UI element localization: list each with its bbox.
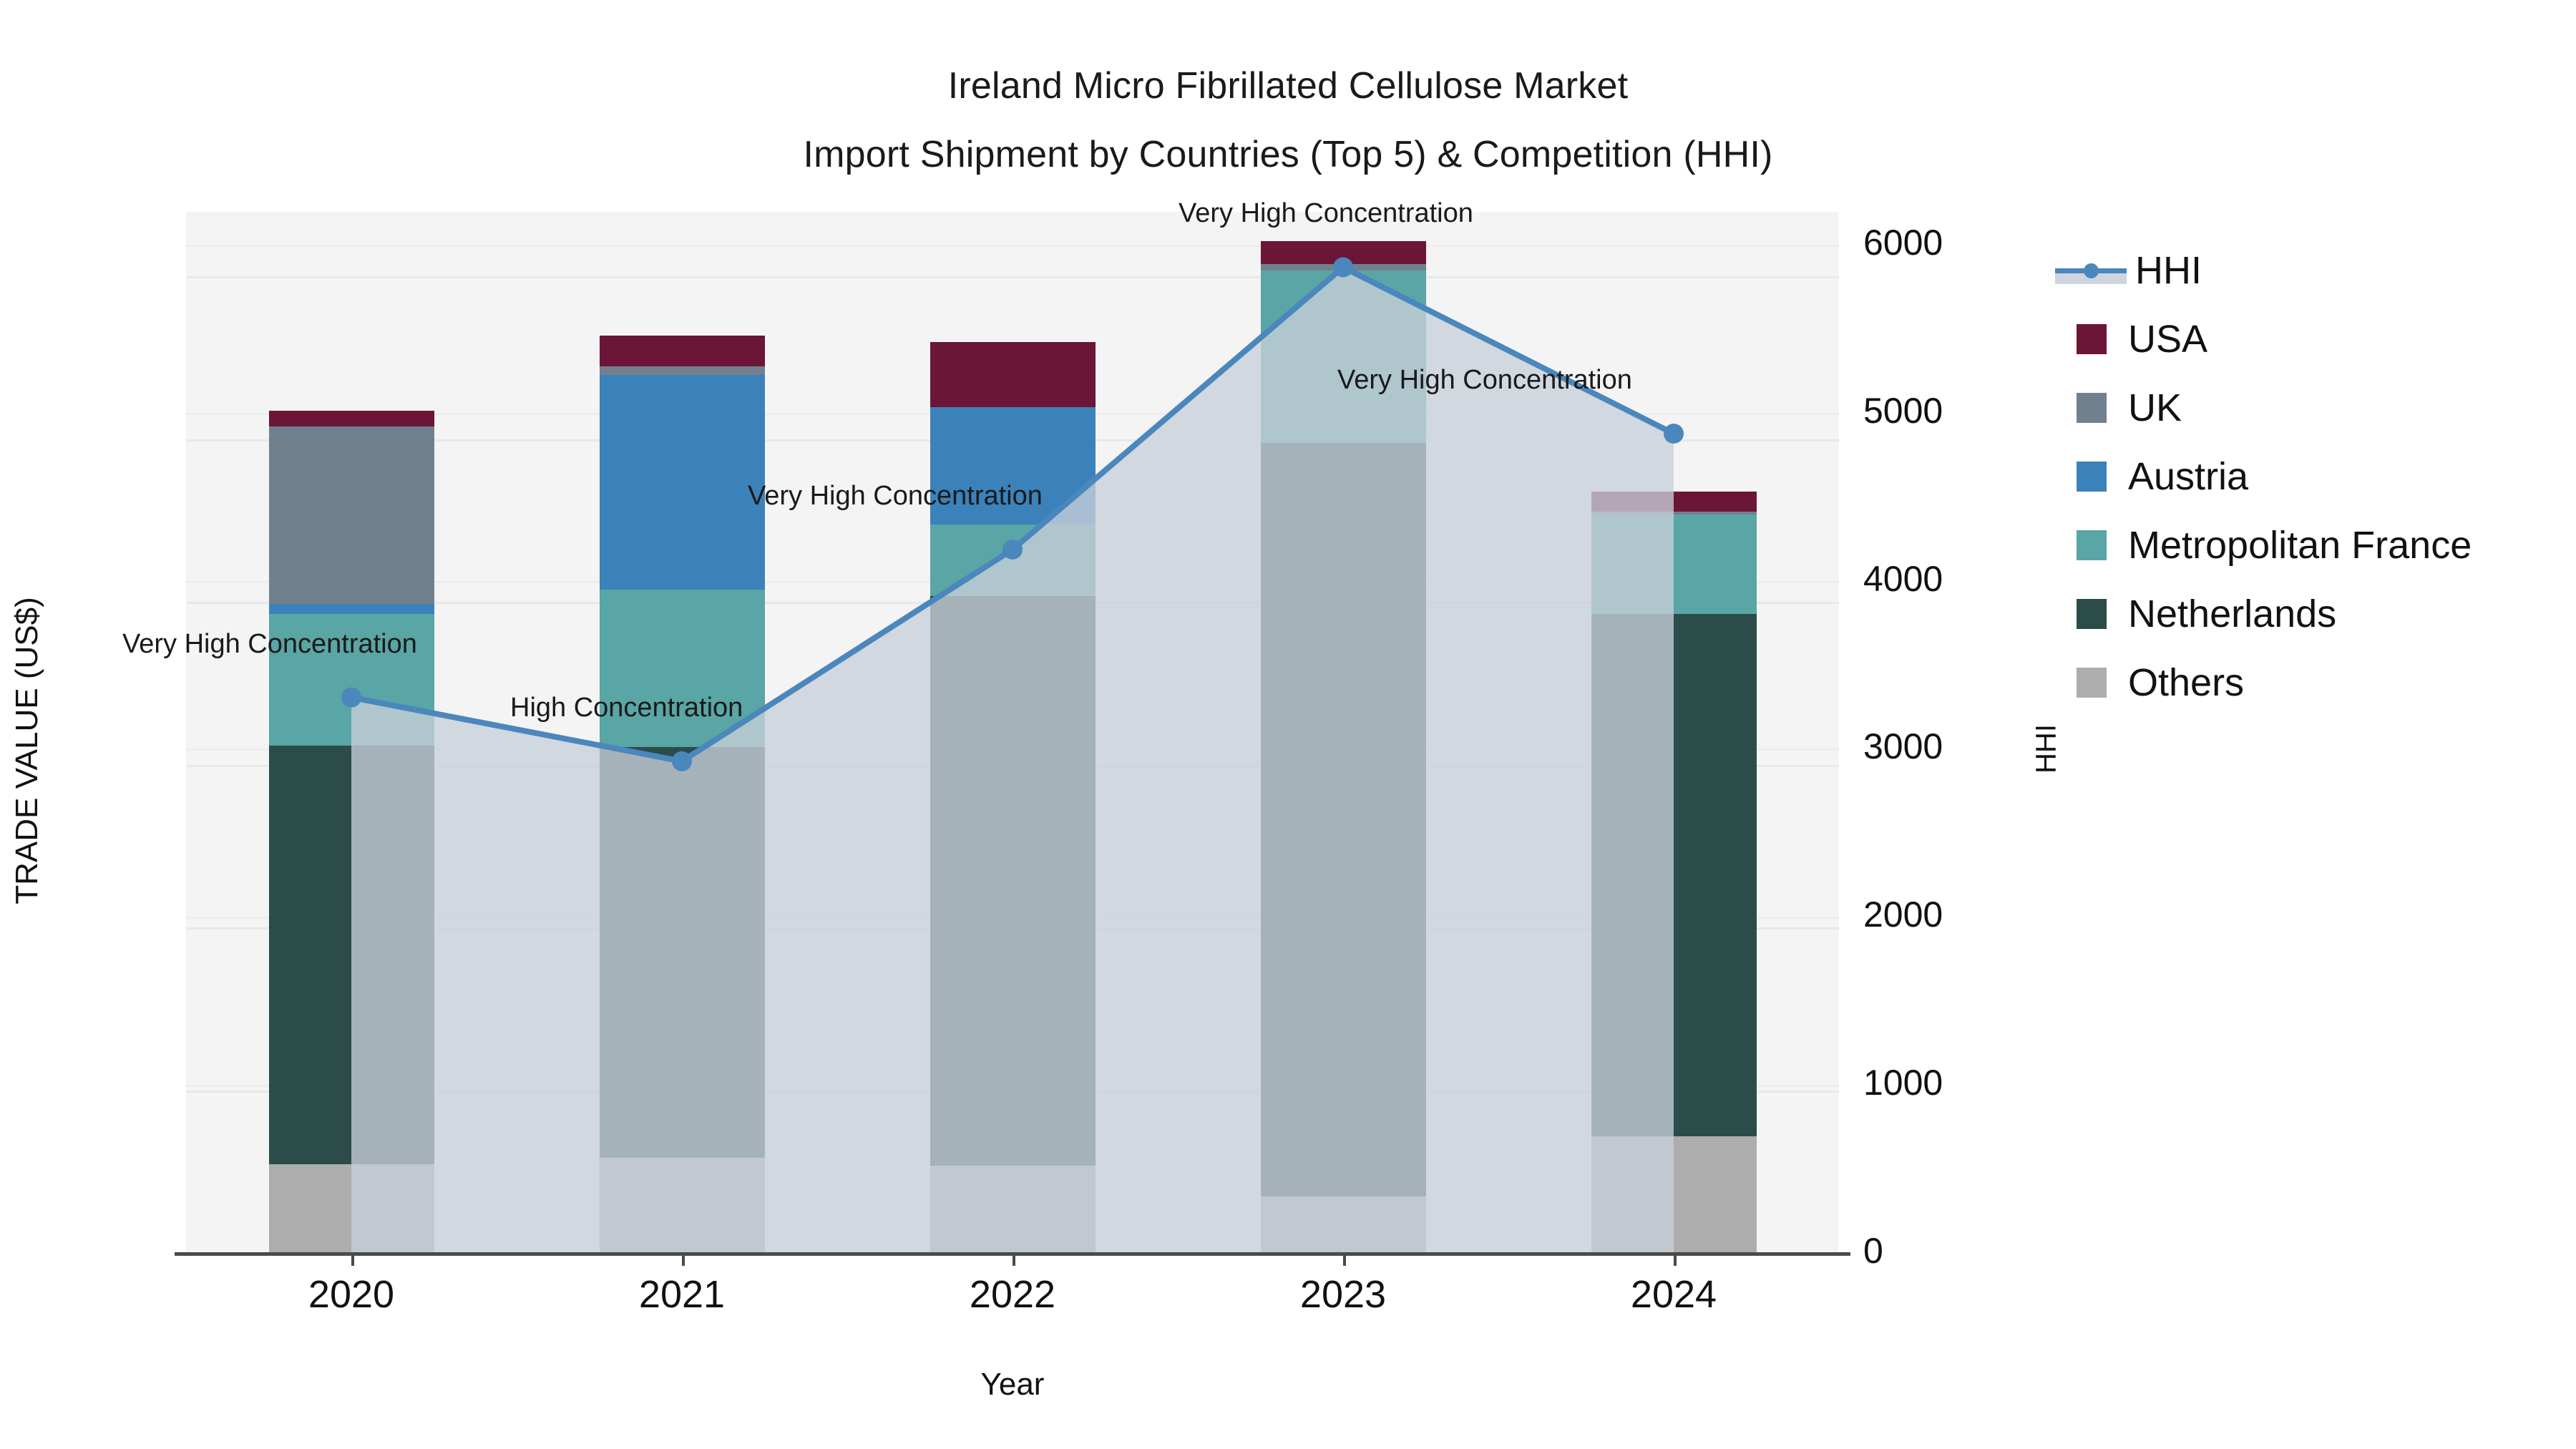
x-axis-tick-2022: 2022 [905, 1272, 1120, 1317]
chart-root: Ireland Micro Fibrillated Cellulose Mark… [0, 0, 2576, 1449]
annotation-2023: Very High Concentration [1179, 198, 1473, 229]
legend-item-label: UK [2128, 386, 2182, 430]
legend-item-austria[interactable]: Austria [2055, 442, 2472, 511]
legend-swatch-icon [2077, 462, 2107, 492]
legend-swatch-icon [2077, 324, 2107, 354]
legend-item-usa[interactable]: USA [2055, 305, 2472, 374]
legend-item-metropolitan-france[interactable]: Metropolitan France [2055, 511, 2472, 580]
hhi-marker-2022[interactable] [1002, 540, 1023, 560]
legend-item-label: Netherlands [2128, 592, 2336, 636]
legend-swatch-icon [2077, 668, 2107, 698]
x-axis-line [175, 1252, 1850, 1256]
chart-title-line-1: Ireland Micro Fibrillated Cellulose Mark… [0, 52, 2576, 120]
y-axis-right-tick: 6000 [1863, 222, 1943, 263]
y-axis-right-tick: 1000 [1863, 1062, 1943, 1103]
y-axis-right-tick: 3000 [1863, 726, 1943, 767]
x-axis-tick-2023: 2023 [1236, 1272, 1450, 1317]
legend-swatch-icon [2077, 393, 2107, 423]
legend-item-label: HHI [2135, 248, 2202, 293]
annotation-2020: Very High Concentration [122, 629, 417, 660]
legend-item-label: USA [2128, 317, 2207, 361]
y-axis-left-label: TRADE VALUE (US$) [9, 393, 45, 1108]
y-axis-right-tick: 5000 [1863, 390, 1943, 431]
legend-swatch-icon [2077, 530, 2107, 560]
hhi-marker-2023[interactable] [1333, 258, 1353, 278]
annotation-2022: Very High Concentration [748, 481, 1043, 512]
legend-item-uk[interactable]: UK [2055, 374, 2472, 442]
x-axis-tick-2024: 2024 [1566, 1272, 1781, 1317]
legend-line-key-icon [2055, 255, 2127, 286]
annotation-2021: High Concentration [510, 693, 743, 723]
x-axis-tick-2020: 2020 [244, 1272, 459, 1317]
legend-item-label: Austria [2128, 454, 2248, 499]
chart-title-line-2: Import Shipment by Countries (Top 5) & C… [0, 120, 2576, 189]
hhi-marker-2024[interactable] [1664, 424, 1684, 444]
legend-item-label: Metropolitan France [2128, 523, 2472, 567]
x-axis-tick-2021: 2021 [575, 1272, 789, 1317]
y-axis-right-tick: 4000 [1863, 558, 1943, 600]
y-axis-right-tick: 0 [1863, 1230, 1883, 1272]
legend-item-others[interactable]: Others [2055, 648, 2472, 717]
hhi-marker-2020[interactable] [341, 688, 361, 708]
chart-title: Ireland Micro Fibrillated Cellulose Mark… [0, 52, 2576, 189]
legend-swatch-icon [2077, 599, 2107, 629]
x-axis-label: Year [186, 1367, 1839, 1402]
legend-item-label: Others [2128, 660, 2244, 705]
legend-item-netherlands[interactable]: Netherlands [2055, 580, 2472, 648]
hhi-marker-2021[interactable] [672, 751, 692, 771]
annotation-2024: Very High Concentration [1337, 365, 1632, 396]
legend-item-hhi[interactable]: HHI [2055, 236, 2472, 305]
hhi-area-fill [351, 268, 1674, 1254]
y-axis-right-tick: 2000 [1863, 894, 1943, 935]
chart-legend: HHIUSAUKAustriaMetropolitan FranceNether… [2055, 236, 2472, 717]
